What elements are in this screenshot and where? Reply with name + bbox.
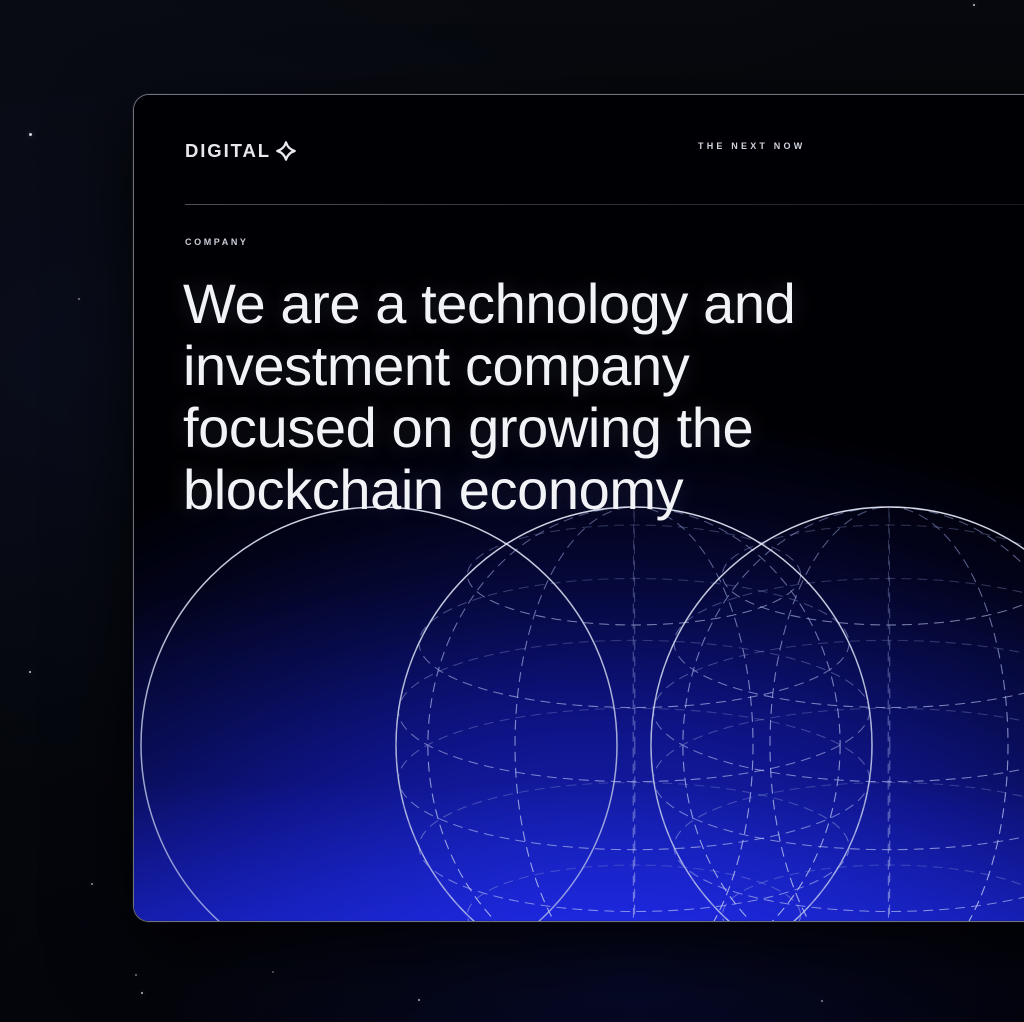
globe-latitude-line: [398, 708, 869, 849]
site-header: DIGITAL THE NEXT NOW: [185, 131, 1024, 171]
globe-longitude-line: [633, 507, 635, 921]
globe-longitude-line: [515, 507, 753, 921]
header-divider: [185, 204, 1024, 205]
globe-outline-ring: [141, 507, 617, 921]
panel-inner: DIGITAL THE NEXT NOW COMPANY We are a te…: [134, 95, 1024, 921]
globe-latitude-line: [398, 640, 869, 781]
globe-longitude-line: [770, 507, 1008, 921]
globe-longitude-line: [770, 507, 1008, 921]
brand-logo[interactable]: DIGITAL: [185, 141, 296, 161]
globe-longitude-line: [651, 507, 1024, 921]
globe-longitude-line: [428, 507, 840, 921]
globe-latitude-line: [653, 640, 1024, 781]
globe-longitude-line: [683, 507, 1024, 921]
globe-longitude-line: [396, 507, 872, 921]
globe-longitude-line: [428, 507, 840, 921]
globe-longitude-line: [888, 507, 890, 921]
globe-latitude-line: [722, 865, 1024, 921]
hero-headline: We are a technology and investment compa…: [183, 273, 923, 521]
globe-outline-ring: [651, 507, 1024, 921]
brand-logo-wordmark: DIGITAL: [185, 142, 271, 161]
header-tagline: THE NEXT NOW: [698, 141, 805, 151]
four-pointed-star-mark-icon: [276, 141, 296, 161]
device-panel: DIGITAL THE NEXT NOW COMPANY We are a te…: [133, 94, 1024, 922]
globe-longitude-line: [683, 507, 1024, 921]
globe-latitude-line: [419, 578, 849, 707]
globe-latitude-line: [419, 782, 849, 911]
globe-latitude-line: [653, 708, 1024, 849]
globe-latitude-line: [467, 865, 800, 921]
section-eyebrow-company: COMPANY: [185, 237, 249, 247]
globe-longitude-line: [515, 507, 753, 921]
globe-outline-ring: [396, 507, 872, 921]
